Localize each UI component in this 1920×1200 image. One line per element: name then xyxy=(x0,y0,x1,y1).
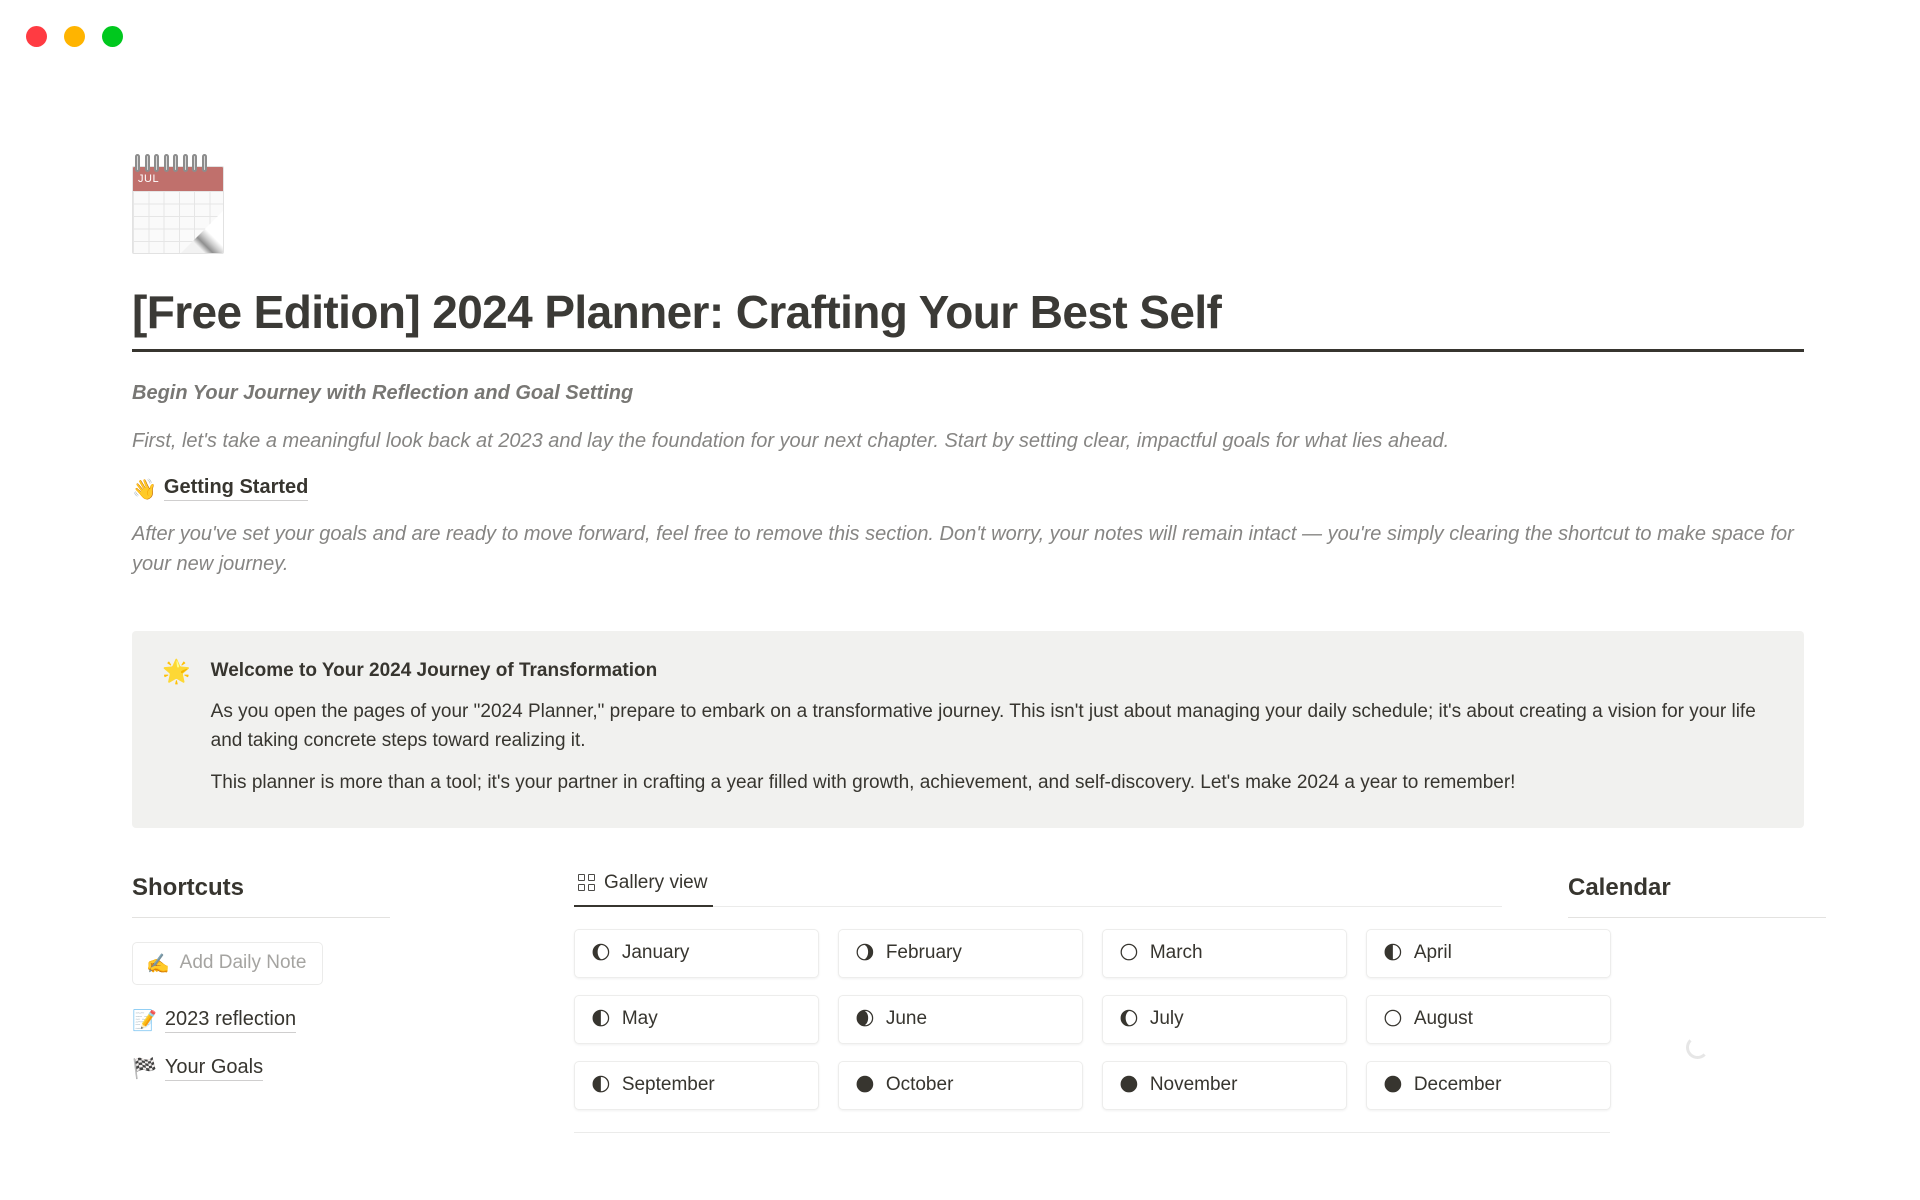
month-card[interactable]: 🌖February xyxy=(838,929,1083,978)
moon-phase-icon: 🌓 xyxy=(591,1076,611,1095)
title-divider xyxy=(132,349,1804,352)
tab-bar-filler xyxy=(713,906,1502,907)
month-card-label: February xyxy=(886,942,962,964)
ring xyxy=(135,154,140,172)
maximize-window-button[interactable] xyxy=(102,26,123,47)
callout-title: Welcome to Your 2024 Journey of Transfor… xyxy=(211,657,1774,685)
loading-spinner-icon xyxy=(1686,1036,1709,1059)
callout-paragraph-1: As you open the pages of your "2024 Plan… xyxy=(211,698,1774,756)
shortcuts-heading: Shortcuts xyxy=(132,872,442,903)
add-daily-note-button[interactable]: ✍️ Add Daily Note xyxy=(132,942,323,985)
month-card-label: June xyxy=(886,1008,927,1030)
month-card-label: January xyxy=(622,942,690,964)
page-title[interactable]: [Free Edition] 2024 Planner: Crafting Yo… xyxy=(132,286,1852,339)
month-card[interactable]: 🌒June xyxy=(838,995,1083,1044)
bottom-columns: Shortcuts ✍️ Add Daily Note 📝 2023 refle… xyxy=(132,872,1852,1133)
shortcut-link-your-goals[interactable]: 🏁 Your Goals xyxy=(132,1056,442,1081)
glowing-star-icon: 🌟 xyxy=(162,657,191,797)
month-card[interactable]: 🌑October xyxy=(838,1061,1083,1110)
calendar-heading: Calendar xyxy=(1568,872,1802,903)
tab-gallery-view[interactable]: Gallery view xyxy=(574,872,713,907)
ring xyxy=(183,154,188,172)
moon-phase-icon: 🌔 xyxy=(1119,1010,1139,1029)
month-card-label: November xyxy=(1150,1074,1238,1096)
chequered-flag-icon: 🏁 xyxy=(132,1056,157,1080)
month-card[interactable]: 🌑November xyxy=(1102,1061,1347,1110)
month-card-label: July xyxy=(1150,1008,1184,1030)
month-card-label: March xyxy=(1150,942,1203,964)
month-card[interactable]: 🌔January xyxy=(574,929,819,978)
shortcuts-divider xyxy=(132,917,390,918)
moon-phase-icon: 🌕 xyxy=(1119,944,1139,963)
ring xyxy=(173,154,178,172)
grid-icon xyxy=(578,874,595,891)
calendar-divider xyxy=(1568,917,1826,918)
month-card-label: December xyxy=(1414,1074,1502,1096)
calendar-loading-area xyxy=(1568,1036,1826,1059)
window-title-bar xyxy=(0,0,1920,72)
spiral-calendar-icon: JUL xyxy=(132,154,224,254)
close-window-button[interactable] xyxy=(26,26,47,47)
notion-page: JUL [Free Edition] 2024 Planner: Craftin… xyxy=(0,72,1920,1200)
moon-phase-icon: 🌖 xyxy=(855,944,875,963)
month-card-label: October xyxy=(886,1074,954,1096)
month-card[interactable]: 🌓May xyxy=(574,995,819,1044)
page-subtitle: Begin Your Journey with Reflection and G… xyxy=(132,378,1852,408)
writing-hand-icon: ✍️ xyxy=(146,952,170,975)
page-icon-calendar-icon[interactable]: JUL xyxy=(132,154,226,260)
month-card[interactable]: 🌔July xyxy=(1102,995,1347,1044)
calendar-body: JUL xyxy=(132,166,224,254)
getting-started-link[interactable]: 👋 Getting Started xyxy=(132,476,1852,501)
note-paragraph: After you've set your goals and are read… xyxy=(132,519,1822,579)
shortcuts-column: Shortcuts ✍️ Add Daily Note 📝 2023 refle… xyxy=(132,872,442,1081)
shortcut-label: Your Goals xyxy=(165,1056,263,1081)
intro-paragraph: First, let's take a meaningful look back… xyxy=(132,426,1822,456)
moon-phase-icon: 🌕 xyxy=(1383,1010,1403,1029)
ring xyxy=(145,154,150,172)
ring xyxy=(164,154,169,172)
callout-paragraph-2: This planner is more than a tool; it's y… xyxy=(211,769,1774,798)
add-daily-note-label: Add Daily Note xyxy=(180,952,307,974)
moon-phase-icon: 🌒 xyxy=(855,1010,875,1029)
welcome-callout: 🌟 Welcome to Your 2024 Journey of Transf… xyxy=(132,631,1804,827)
month-card[interactable]: 🌓September xyxy=(574,1061,819,1110)
month-card-label: August xyxy=(1414,1008,1473,1030)
gallery-column: Gallery view 🌔January🌖February🌕March🌓Apr… xyxy=(442,872,1502,1133)
tab-gallery-view-label: Gallery view xyxy=(604,872,707,894)
waving-hand-icon: 👋 xyxy=(132,477,157,501)
gallery-tab-bar: Gallery view xyxy=(574,872,1502,907)
month-card[interactable]: 🌑December xyxy=(1366,1061,1611,1110)
traffic-lights xyxy=(26,26,123,47)
memo-icon: 📝 xyxy=(132,1008,157,1032)
calendar-rings xyxy=(135,154,207,172)
gallery-bottom-divider xyxy=(574,1132,1610,1133)
moon-phase-icon: 🌑 xyxy=(855,1076,875,1095)
minimize-window-button[interactable] xyxy=(64,26,85,47)
moon-phase-icon: 🌓 xyxy=(591,1010,611,1029)
ring xyxy=(202,154,207,172)
moon-phase-icon: 🌔 xyxy=(591,944,611,963)
month-card-label: September xyxy=(622,1074,715,1096)
month-card[interactable]: 🌕March xyxy=(1102,929,1347,978)
month-gallery: 🌔January🌖February🌕March🌓April🌓May🌒June🌔J… xyxy=(574,929,1502,1110)
ring xyxy=(192,154,197,172)
shortcut-label: 2023 reflection xyxy=(165,1008,296,1033)
calendar-column: Calendar xyxy=(1502,872,1802,1059)
moon-phase-icon: 🌑 xyxy=(1383,1076,1403,1095)
month-card-label: April xyxy=(1414,942,1452,964)
shortcut-link-2023-reflection[interactable]: 📝 2023 reflection xyxy=(132,1008,442,1033)
moon-phase-icon: 🌓 xyxy=(1383,944,1403,963)
ring xyxy=(154,154,159,172)
moon-phase-icon: 🌑 xyxy=(1119,1076,1139,1095)
getting-started-label: Getting Started xyxy=(164,476,308,501)
month-card-label: May xyxy=(622,1008,658,1030)
